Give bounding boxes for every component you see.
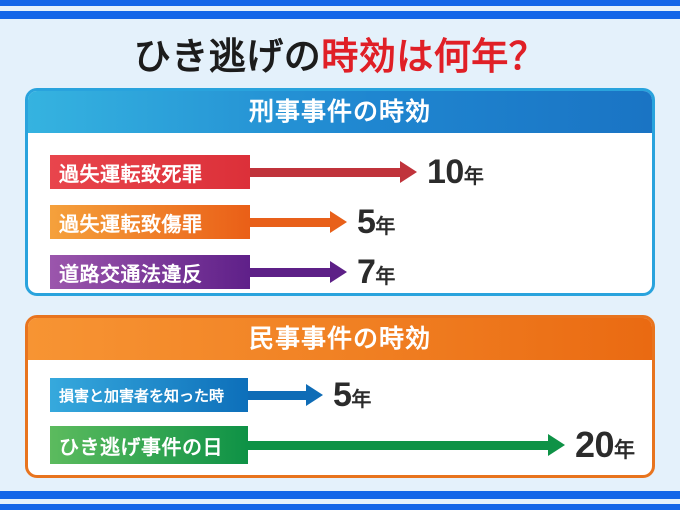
duration-unit: 年 bbox=[351, 389, 371, 411]
duration-value: 20年 bbox=[575, 427, 635, 463]
duration-arrow-icon bbox=[248, 378, 323, 412]
duration-unit: 年 bbox=[375, 266, 395, 288]
statute-row: 過失運転致死罪 10年 bbox=[50, 155, 484, 189]
duration-value: 5年 bbox=[357, 205, 395, 239]
duration-number: 7 bbox=[357, 253, 375, 291]
statute-label: 過失運転致傷罪 bbox=[50, 205, 250, 239]
page-title-accent: 時効は何年？ bbox=[321, 36, 546, 77]
duration-value: 10年 bbox=[427, 155, 484, 189]
duration-unit: 年 bbox=[464, 166, 484, 188]
bottom-accent-bar-thin bbox=[0, 504, 680, 510]
card-body-criminal: 過失運転致死罪 10年 過失運転致傷罪 5年 道路交通法違反 7年 bbox=[28, 133, 652, 293]
statute-row: 損害と加害者を知った時 5年 bbox=[50, 378, 371, 412]
statute-label: 道路交通法違反 bbox=[50, 255, 250, 289]
top-accent-bar-thin bbox=[0, 0, 680, 6]
card-body-civil: 損害と加害者を知った時 5年 ひき逃げ事件の日 20年 bbox=[28, 360, 652, 475]
card-criminal: 刑事事件の時効 過失運転致死罪 10年 過失運転致傷罪 5年 道路交通法違反 bbox=[25, 88, 655, 296]
page-title: ひき逃げの時効は何年？ bbox=[0, 26, 680, 80]
card-civil: 民事事件の時効 損害と加害者を知った時 5年 ひき逃げ事件の日 20年 bbox=[25, 315, 655, 478]
page-title-plain: ひき逃げの bbox=[134, 36, 322, 77]
duration-value: 5年 bbox=[333, 378, 371, 412]
duration-arrow-icon bbox=[248, 426, 565, 464]
statute-label: ひき逃げ事件の日 bbox=[50, 426, 248, 464]
duration-number: 10 bbox=[427, 153, 464, 191]
duration-unit: 年 bbox=[375, 216, 395, 238]
duration-arrow-icon bbox=[250, 205, 347, 239]
duration-value: 7年 bbox=[357, 255, 395, 289]
duration-arrow-icon bbox=[250, 255, 347, 289]
statute-row: 過失運転致傷罪 5年 bbox=[50, 205, 395, 239]
duration-number: 20 bbox=[575, 424, 614, 465]
duration-number: 5 bbox=[357, 203, 375, 241]
duration-unit: 年 bbox=[614, 439, 635, 462]
top-accent-bar-thick bbox=[0, 11, 680, 19]
card-header-civil: 民事事件の時効 bbox=[28, 318, 652, 360]
card-header-criminal: 刑事事件の時効 bbox=[28, 91, 652, 133]
bottom-accent-bar-thick bbox=[0, 491, 680, 499]
statute-row: ひき逃げ事件の日 20年 bbox=[50, 426, 635, 464]
statute-row: 道路交通法違反 7年 bbox=[50, 255, 395, 289]
statute-label: 過失運転致死罪 bbox=[50, 155, 250, 189]
duration-arrow-icon bbox=[250, 155, 417, 189]
duration-number: 5 bbox=[333, 376, 351, 414]
statute-label: 損害と加害者を知った時 bbox=[50, 378, 248, 412]
